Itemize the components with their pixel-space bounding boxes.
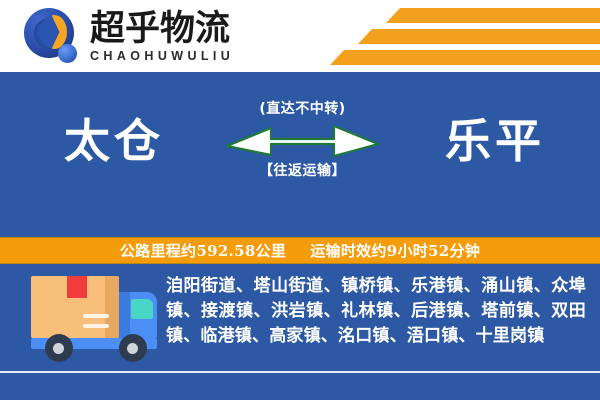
mileage-label: 公路里程约592.58公里 (120, 242, 286, 260)
stripe-1 (386, 8, 600, 23)
truck-window (131, 299, 153, 319)
bottom-divider (0, 371, 600, 373)
brand-name-en: CHAOHUWULIU (90, 49, 234, 63)
truck-cargo-tape (67, 276, 87, 298)
truck-cargo-shade (105, 276, 119, 338)
truck-cab-shade (119, 292, 130, 338)
distance-text: 公路里程约592.58公里 运输时效约9小时52分钟 (120, 240, 480, 261)
distance-bar: 公路里程约592.58公里 运输时效约9小时52分钟 (0, 237, 600, 264)
poster-header: 超乎物流 CHAOHUWULIU (0, 0, 600, 72)
origin-city: 太仓 (64, 118, 164, 164)
stripe-3 (330, 50, 600, 65)
route-note-direct: (直达不中转) (225, 102, 380, 116)
route-middle: (直达不中转) 【往返运输】 (225, 102, 380, 210)
route-band: 太仓 (直达不中转) 【往返运输】 乐平 (0, 72, 600, 237)
circular-q-logo-icon (22, 6, 84, 68)
stripe-2 (358, 29, 600, 44)
brand-logo: 超乎物流 CHAOHUWULIU (22, 6, 234, 68)
destination-city: 乐平 (445, 118, 545, 164)
truck-cargo-line-1 (83, 314, 109, 318)
logistics-route-poster: 超乎物流 CHAOHUWULIU 太仓 (直达不中转) 【往返运输】 乐平 (0, 0, 600, 400)
coverage-area-list: 洎阳街道、塔山街道、镇桥镇、乐港镇、涌山镇、众埠镇、接渡镇、洪岩镇、礼林镇、后港… (166, 274, 586, 349)
truck-cargo-line-2 (83, 324, 109, 328)
coverage-section: 洎阳街道、塔山街道、镇桥镇、乐港镇、涌山镇、众埠镇、接渡镇、洪岩镇、礼林镇、后港… (0, 264, 600, 400)
route-note-roundtrip: 【往返运输】 (225, 164, 380, 178)
header-stripes (330, 8, 600, 68)
delivery-truck-icon (27, 272, 167, 367)
bidirectional-arrow-icon (225, 122, 380, 160)
brand-text: 超乎物流 CHAOHUWULIU (90, 11, 234, 64)
logo-dot-icon (58, 44, 77, 63)
duration-label: 运输时效约9小时52分钟 (310, 242, 480, 260)
brand-name-cn: 超乎物流 (90, 11, 234, 48)
truck-hub-front (127, 343, 138, 354)
truck-hub-rear (53, 343, 64, 354)
